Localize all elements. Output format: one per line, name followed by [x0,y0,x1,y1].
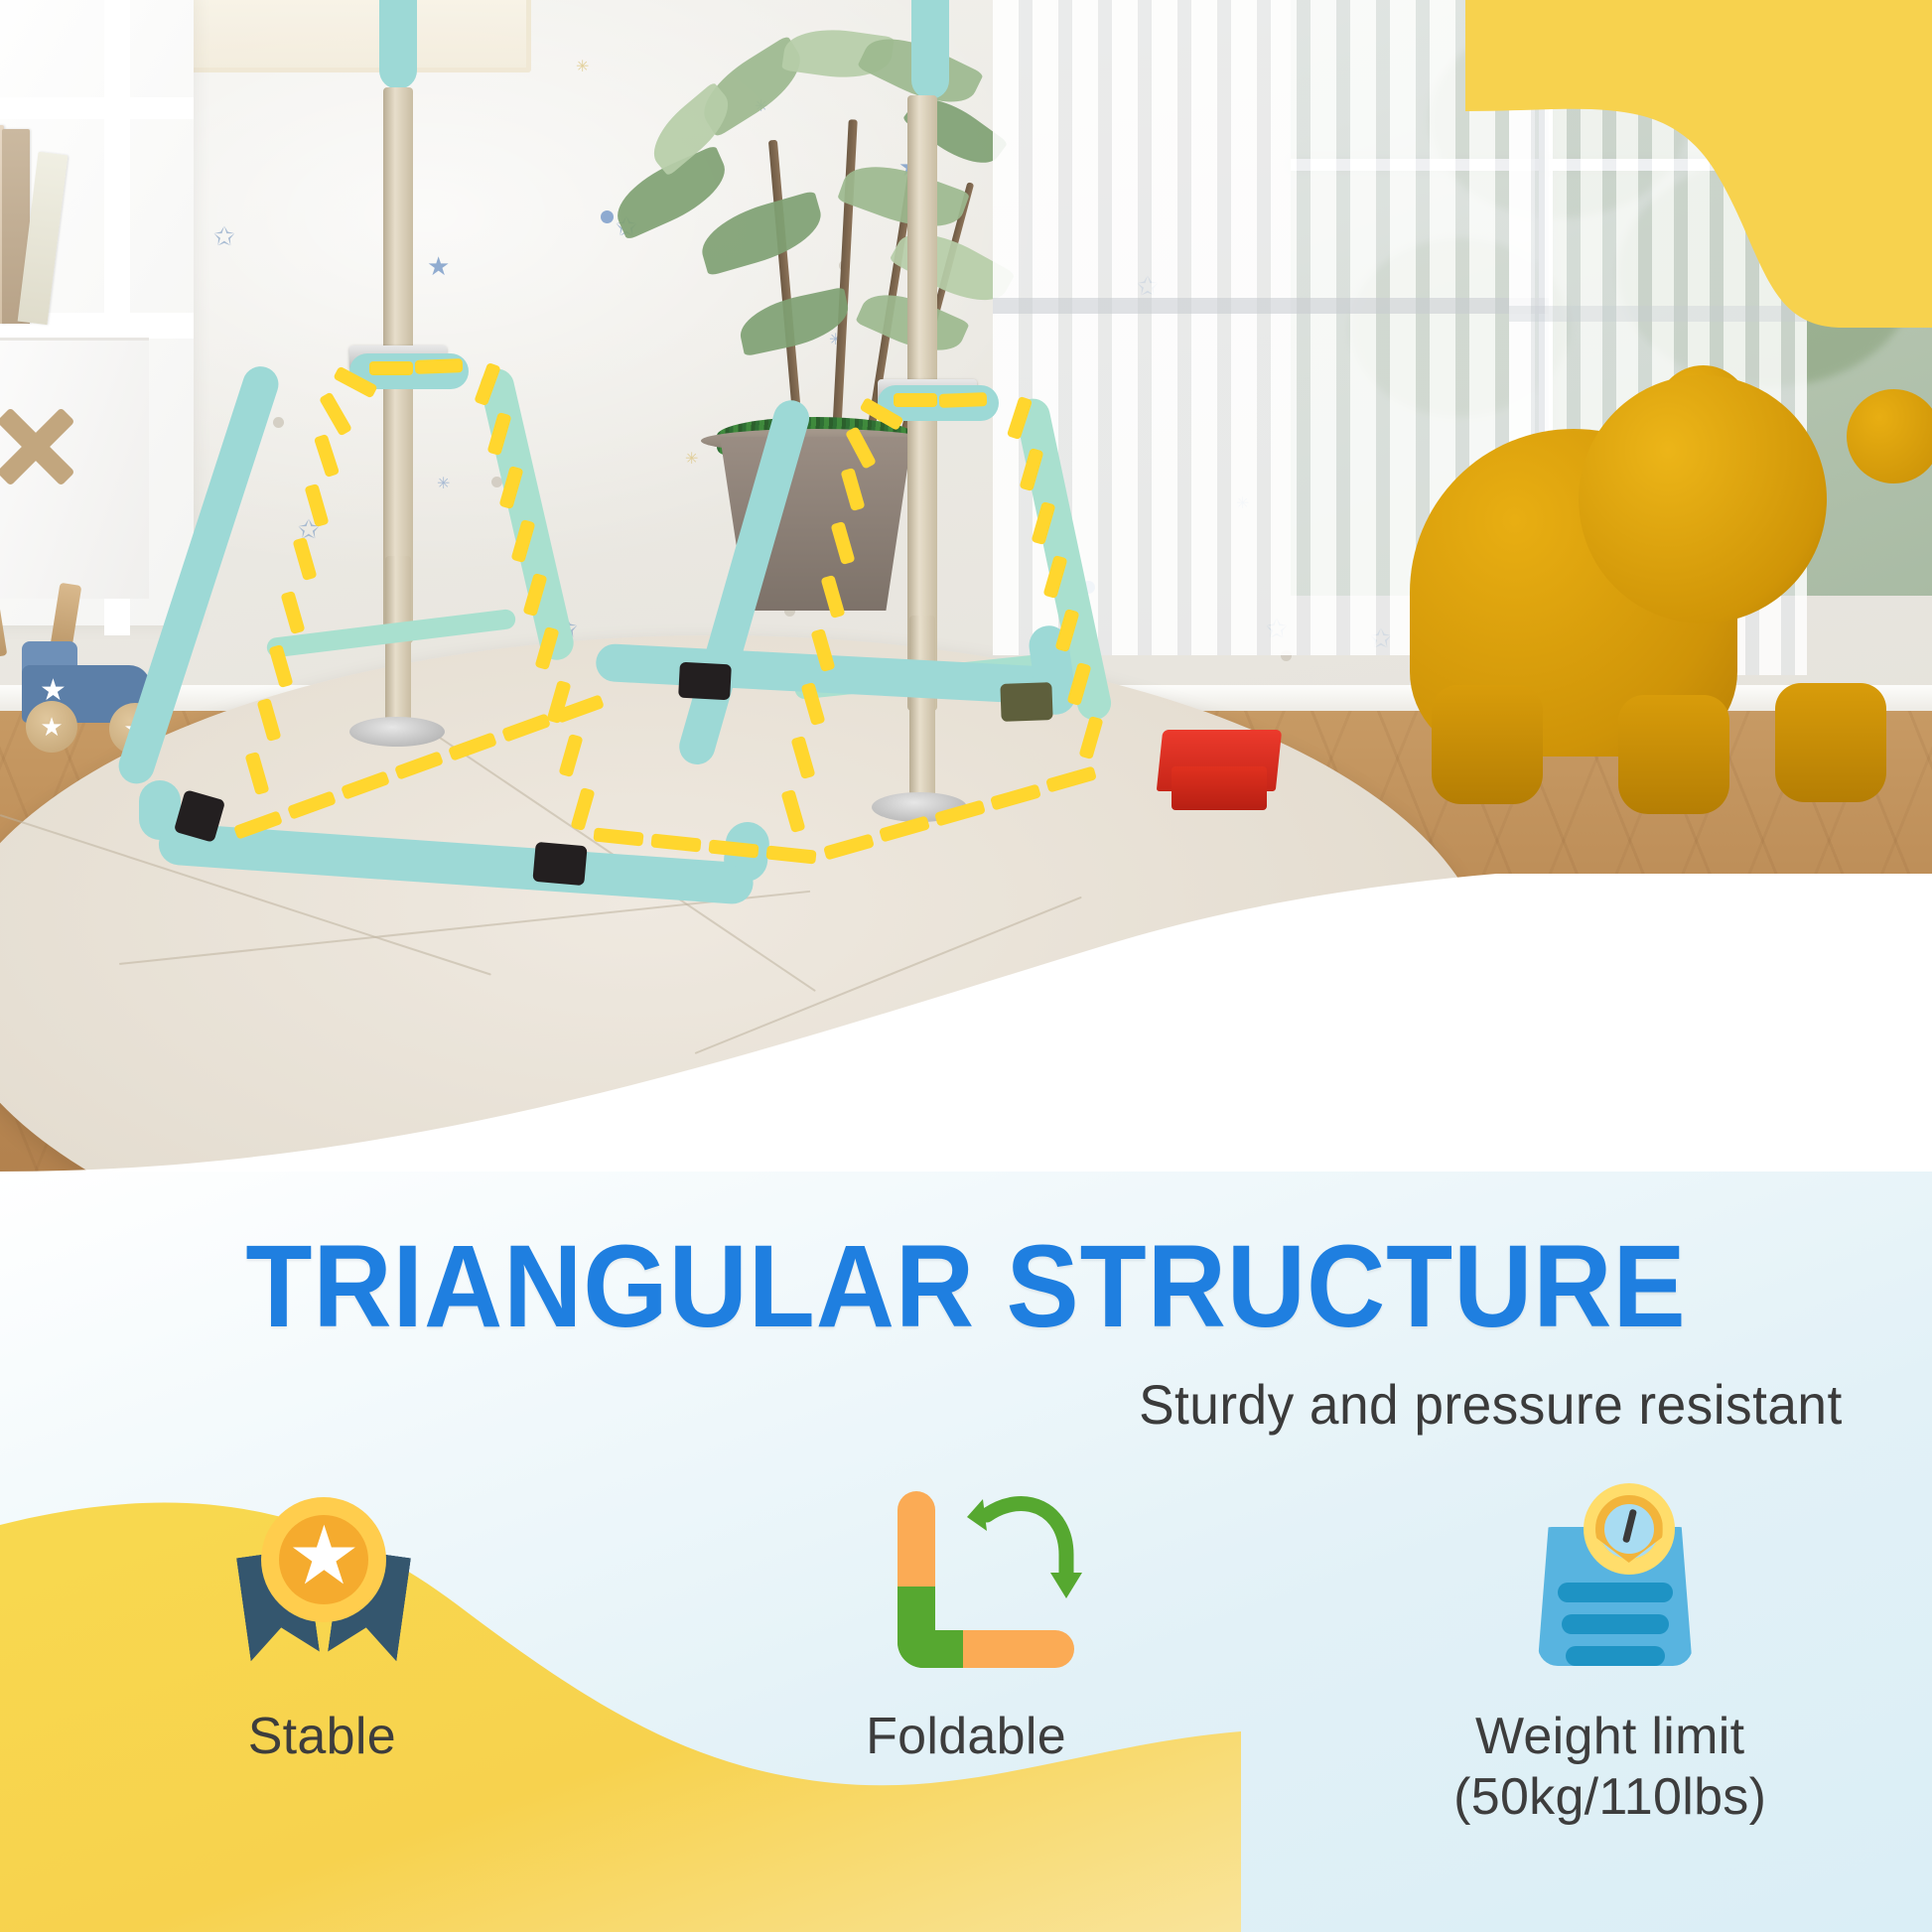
left-pole-lower [385,556,411,735]
high-bar-right-bend [911,0,949,99]
foam-grip-mid [678,662,732,701]
award-medal-icon: ★ [207,1479,436,1693]
feature-label-weight-limit: Weight limit (50kg/110lbs) [1453,1707,1766,1829]
left-pole-foot [349,717,445,747]
page-title: TRIANGULAR STRUCTURE [68,1219,1864,1354]
feature-label-stable: Stable [248,1707,396,1767]
feature-label-foldable: Foldable [866,1707,1066,1767]
left-triangle-front-leg [114,361,283,788]
star-glyph: ★ [279,1509,368,1604]
right-triangle-front-leg [675,396,813,768]
feature-stable: ★ Stable [0,1479,644,1906]
high-bar-left-bend [379,0,417,89]
rotate-arrow-glyph [959,1481,1088,1620]
feature-weight-limit: Weight limit (50kg/110lbs) [1288,1479,1932,1906]
product-marketing-image: ✩ ★ ✩ ★ ✩ ★ ✩ ✩ ✩ ✩ ✳ ✳ ✳ ✳ ✳ ✳ ✳ ✳ ✳ [0,0,1932,1932]
yellow-corner-blob-top-right [1465,0,1932,328]
weight-scale-icon [1496,1479,1725,1693]
feature-list: ★ Stable Foldable [0,1479,1932,1906]
page-subtitle: Sturdy and pressure resistant [96,1372,1932,1437]
fold-arrow-icon [852,1479,1080,1693]
right-pole-lower [909,616,935,804]
feature-foldable: Foldable [644,1479,1289,1906]
foam-grip-right [1000,682,1052,722]
